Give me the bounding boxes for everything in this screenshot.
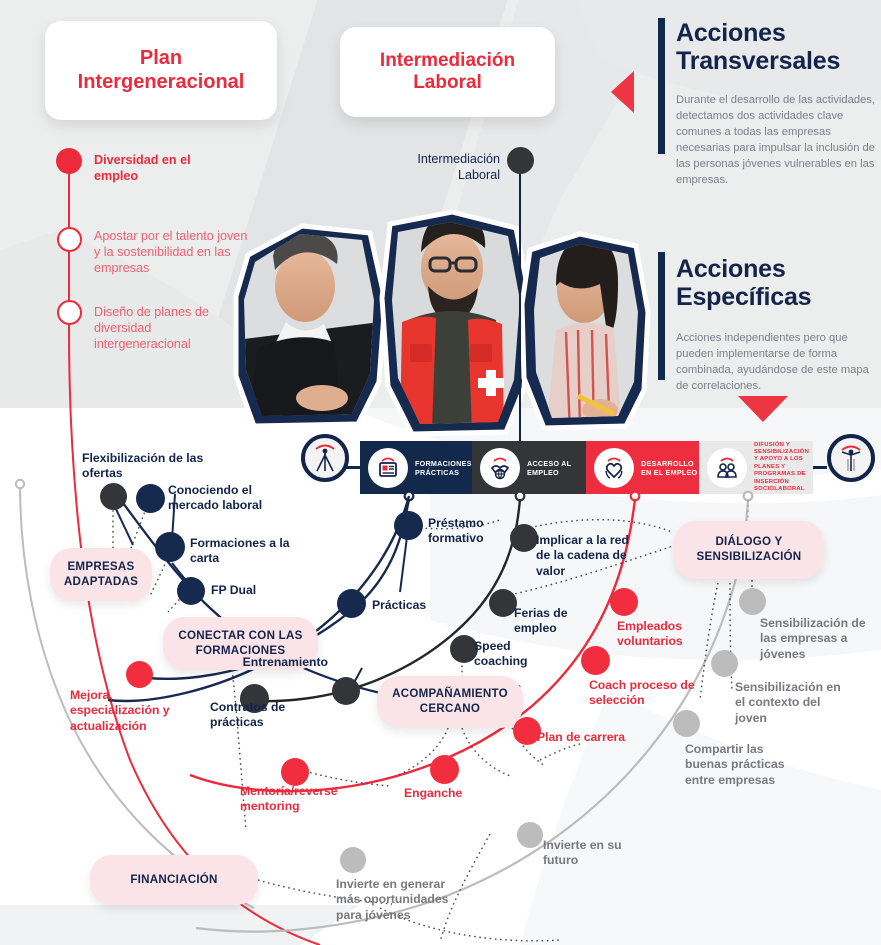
node-label-ferias: Ferias de empleo bbox=[514, 606, 610, 637]
strip-end-left[interactable] bbox=[301, 434, 349, 482]
node-label-practicas: Prácticas bbox=[372, 598, 462, 613]
node-label-coach: Coach proceso de selección bbox=[589, 678, 697, 709]
node-label-invierte-futuro: Invierte en su futuro bbox=[543, 838, 643, 869]
node-label-enganche: Enganche bbox=[404, 786, 496, 801]
pill-finan-line1: FINANCIACIÓN bbox=[130, 873, 217, 888]
pill-dialogo-line1: DIÁLOGO Y bbox=[715, 535, 782, 548]
timeline-label-diversidad: Diversidad en el empleo bbox=[94, 152, 234, 184]
node-label-flexibilizacion: Flexibilización de las ofertas bbox=[82, 451, 212, 482]
node-invierte-futuro[interactable] bbox=[517, 822, 543, 848]
hands-heart-icon bbox=[594, 448, 634, 488]
node-sensib-empresas[interactable] bbox=[739, 588, 766, 615]
node-invierte-generar[interactable] bbox=[340, 847, 366, 873]
timeline-label-diseno: Diseño de planes de diversidad intergene… bbox=[94, 304, 234, 352]
node-entrenamiento[interactable] bbox=[332, 677, 360, 705]
node-label-contratos: Contratos de prácticas bbox=[210, 700, 318, 731]
card-plan-line2: Intergeneracional bbox=[78, 71, 245, 93]
handshake-globe-icon bbox=[480, 448, 520, 488]
card-intermediacion-laboral[interactable]: Intermediación Laboral bbox=[340, 27, 555, 117]
node-label-plan-carrera: Plan de carrera bbox=[537, 730, 639, 745]
node-label-mentoria: Mentoría/reverse mentoring bbox=[240, 784, 370, 815]
especificas-body: Acciones independientes pero que pueden … bbox=[676, 330, 872, 394]
node-label-implicar: Implicar a la red de la cadena de valor bbox=[536, 533, 636, 579]
transversales-body: Durante el desarrollo de las actividades… bbox=[676, 92, 876, 188]
strip-segment-acceso[interactable]: ACCESO AL EMPLEO bbox=[472, 441, 590, 494]
pill-empresas-line1: EMPRESAS bbox=[67, 560, 134, 573]
node-mejora[interactable] bbox=[126, 661, 153, 688]
transversales-title: Acciones Transversales bbox=[676, 19, 876, 75]
pill-acomp-line1: ACOMPAÑAMIENTO bbox=[392, 687, 508, 700]
pill-acomp-line2: CERCANO bbox=[420, 702, 480, 715]
especificas-arrow-down-icon bbox=[738, 396, 788, 422]
card-plan-line1: Plan bbox=[140, 47, 182, 69]
node-conociendo[interactable] bbox=[136, 484, 165, 513]
node-empleados[interactable] bbox=[610, 588, 638, 616]
node-ferias[interactable] bbox=[489, 589, 517, 617]
node-prestamo[interactable] bbox=[394, 511, 423, 540]
node-compartir[interactable] bbox=[673, 710, 700, 737]
timeline-dot-diversidad[interactable] bbox=[56, 148, 82, 174]
card-inter-line1: Intermediación bbox=[380, 50, 515, 71]
group-people-icon bbox=[707, 448, 747, 488]
person-standing-icon bbox=[310, 442, 340, 474]
node-label-conociendo: Conociendo el mercado laboral bbox=[168, 483, 300, 514]
strip-segment-difusion[interactable]: DIFUSIÓN Y SENSIBILIZACIÓN Y APOYO A LOS… bbox=[699, 441, 813, 494]
node-label-sensib-contexto: Sensibilización en el contexto del joven bbox=[735, 680, 851, 726]
transversales-title-line1: Acciones bbox=[676, 19, 786, 47]
timeline-label-intermediacion: Intermediación Laboral bbox=[388, 151, 500, 183]
strip-label-desarrollo: DESARROLLO EN EL EMPLEO bbox=[641, 459, 699, 477]
transversales-arrow-left-icon bbox=[611, 71, 634, 113]
transversales-title-line2: Transversales bbox=[676, 47, 840, 75]
infographic-canvas: Plan Intergeneracional Intermediación La… bbox=[0, 0, 881, 945]
node-label-invierte-generar: Invierte en generar más oportunidades pa… bbox=[336, 877, 458, 923]
node-label-compartir: Compartir las buenas prácticas entre emp… bbox=[685, 742, 801, 788]
especificas-title: Acciones Específicas bbox=[676, 255, 866, 311]
node-label-formaciones-carta: Formaciones a la carta bbox=[190, 536, 310, 567]
strip-link-2 bbox=[813, 466, 827, 469]
node-label-entrenamiento: Entrenamiento bbox=[224, 655, 328, 670]
strip-segment-desarrollo[interactable]: DESARROLLO EN EL EMPLEO bbox=[586, 441, 699, 494]
pill-empresas-line2: ADAPTADAS bbox=[64, 575, 138, 588]
node-coach[interactable] bbox=[581, 646, 610, 675]
strip-label-difusion: DIFUSIÓN Y SENSIBILIZACIÓN Y APOYO A LOS… bbox=[754, 442, 813, 494]
pill-dialogo-y-sensibilizacion[interactable]: DIÁLOGO Y SENSIBILIZACIÓN bbox=[674, 521, 824, 579]
node-fp-dual[interactable] bbox=[177, 577, 205, 605]
card-inter-line2: Laboral bbox=[413, 72, 482, 93]
timeline-label-apostar: Apostar por el talento joven y la sosten… bbox=[94, 228, 252, 276]
node-label-mejora: Mejora, especialización y actualización bbox=[70, 688, 188, 734]
person-arms-up-icon bbox=[836, 442, 866, 474]
pill-empresas-adaptadas[interactable]: EMPRESAS ADAPTADAS bbox=[50, 548, 152, 601]
node-label-sensib-empresas: Sensibilización de las empresas a jóvene… bbox=[760, 616, 872, 662]
transversales-accent-rule bbox=[658, 18, 665, 154]
node-flexibilizacion[interactable] bbox=[100, 483, 127, 510]
pill-acompanamiento-cercano[interactable]: ACOMPAÑAMIENTO CERCANO bbox=[377, 676, 523, 728]
node-practicas[interactable] bbox=[337, 589, 366, 618]
pill-financiacion[interactable]: FINANCIACIÓN bbox=[90, 855, 258, 905]
node-mentoria[interactable] bbox=[281, 758, 309, 786]
node-label-speed: Speed coaching bbox=[474, 639, 560, 670]
strip-label-acceso: ACCESO AL EMPLEO bbox=[527, 459, 590, 477]
node-sensib-contexto[interactable] bbox=[711, 650, 738, 677]
node-label-fp-dual: FP Dual bbox=[211, 583, 301, 598]
timeline-dot-diseno[interactable] bbox=[57, 300, 82, 325]
strip-end-right[interactable] bbox=[827, 434, 875, 482]
timeline-dot-apostar[interactable] bbox=[57, 227, 82, 252]
node-label-empleados: Empleados voluntarios bbox=[617, 619, 717, 650]
card-plan-intergeneracional[interactable]: Plan Intergeneracional bbox=[45, 21, 277, 120]
especificas-title-line1: Acciones bbox=[676, 255, 786, 283]
timeline-dot-intermediacion[interactable] bbox=[507, 147, 534, 174]
node-formaciones-carta[interactable] bbox=[155, 532, 185, 562]
node-implicar[interactable] bbox=[510, 524, 538, 552]
strip-segment-formaciones[interactable]: FORMACIONES Y PRÁCTICAS bbox=[360, 441, 488, 494]
pill-dialogo-line2: SENSIBILIZACIÓN bbox=[697, 550, 802, 563]
especificas-title-line2: Específicas bbox=[676, 283, 811, 311]
screen-training-icon bbox=[368, 448, 408, 488]
node-enganche[interactable] bbox=[430, 755, 459, 784]
pill-conectar-line1: CONECTAR CON LAS bbox=[178, 629, 302, 642]
especificas-accent-rule bbox=[658, 252, 665, 380]
